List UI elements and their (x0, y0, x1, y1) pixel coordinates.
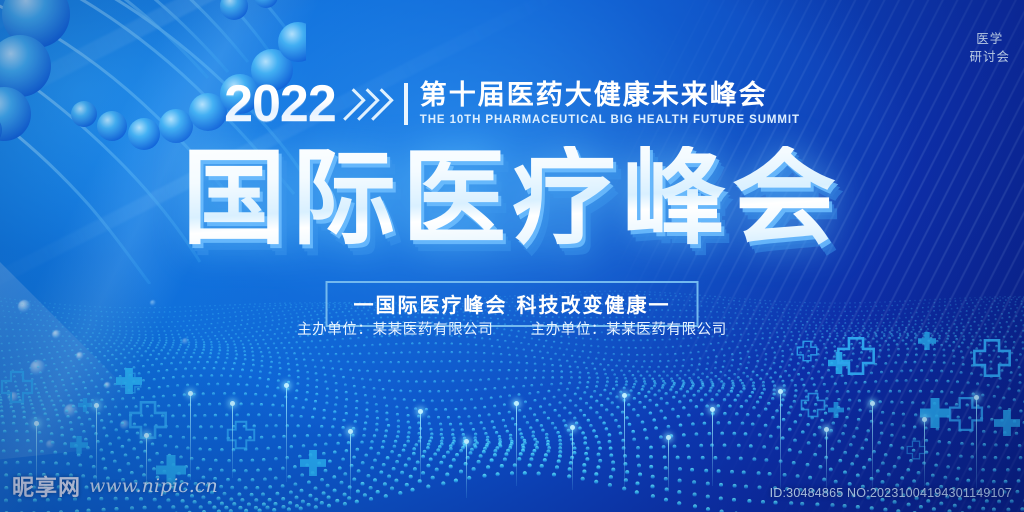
light-stem-icon (624, 396, 625, 488)
triple-chevron-right-icon (344, 90, 386, 119)
watermark-site-cn: 昵享网 (12, 470, 81, 502)
footer-id-text: ID:30484865 NO:20231004194301149107 (770, 486, 1012, 500)
light-stem-icon (350, 432, 351, 496)
medical-cross-icon (120, 372, 142, 394)
light-stem-icon (712, 410, 713, 486)
light-stem-icon (780, 392, 781, 490)
corner-badge-line2: 研讨会 (969, 48, 1010, 66)
light-stem-icon (872, 404, 873, 488)
vertical-bar-icon (404, 83, 408, 125)
header-title-en: THE 10TH PHARMACEUTICAL BIG HEALTH FUTUR… (420, 114, 800, 126)
corner-badge: 医学 研讨会 (969, 30, 1010, 66)
header-title-cn: 第十届医药大健康未来峰会 (420, 82, 800, 111)
medical-cross-icon (796, 340, 818, 362)
main-title: 国际医疗峰会 (0, 146, 1024, 250)
light-stem-icon (232, 404, 233, 478)
year-label: 2022 (224, 78, 336, 130)
medical-cross-icon (906, 440, 926, 460)
medical-cross-icon (948, 396, 984, 432)
poster-canvas: 医学 研讨会 2022 第十届医药大健康未来峰会 THE 10TH PHARMA… (0, 0, 1024, 512)
light-stem-icon (572, 428, 573, 490)
medical-cross-icon (800, 392, 826, 418)
organizer-label: 主办单位：某某医药有限公司 (297, 322, 493, 338)
organizer-label: 主办单位：某某医药有限公司 (531, 322, 727, 338)
watermark: 昵享网 www.nipic.cn (12, 470, 218, 502)
corner-badge-line1: 医学 (969, 30, 1010, 48)
medical-cross-icon (972, 338, 1012, 378)
light-stem-icon (466, 442, 467, 498)
light-stem-icon (976, 398, 977, 488)
light-stem-icon (668, 438, 669, 492)
watermark-site-url: www.nipic.cn (89, 475, 218, 497)
light-stem-icon (826, 430, 827, 488)
light-stem-icon (516, 404, 517, 486)
header-texts: 第十届医药大健康未来峰会 THE 10TH PHARMACEUTICAL BIG… (420, 82, 800, 126)
organizer-row: 主办单位：某某医药有限公司 主办单位：某某医药有限公司 (0, 318, 1024, 339)
light-stem-icon (190, 394, 191, 480)
medical-cross-icon (226, 420, 256, 450)
light-stem-icon (420, 412, 421, 482)
medical-cross-icon (0, 370, 34, 404)
light-stem-icon (924, 420, 925, 486)
medical-cross-icon (836, 336, 876, 376)
header-row: 2022 第十届医药大健康未来峰会 THE 10TH PHARMACEUTICA… (0, 78, 1024, 130)
light-stem-icon (286, 386, 287, 482)
